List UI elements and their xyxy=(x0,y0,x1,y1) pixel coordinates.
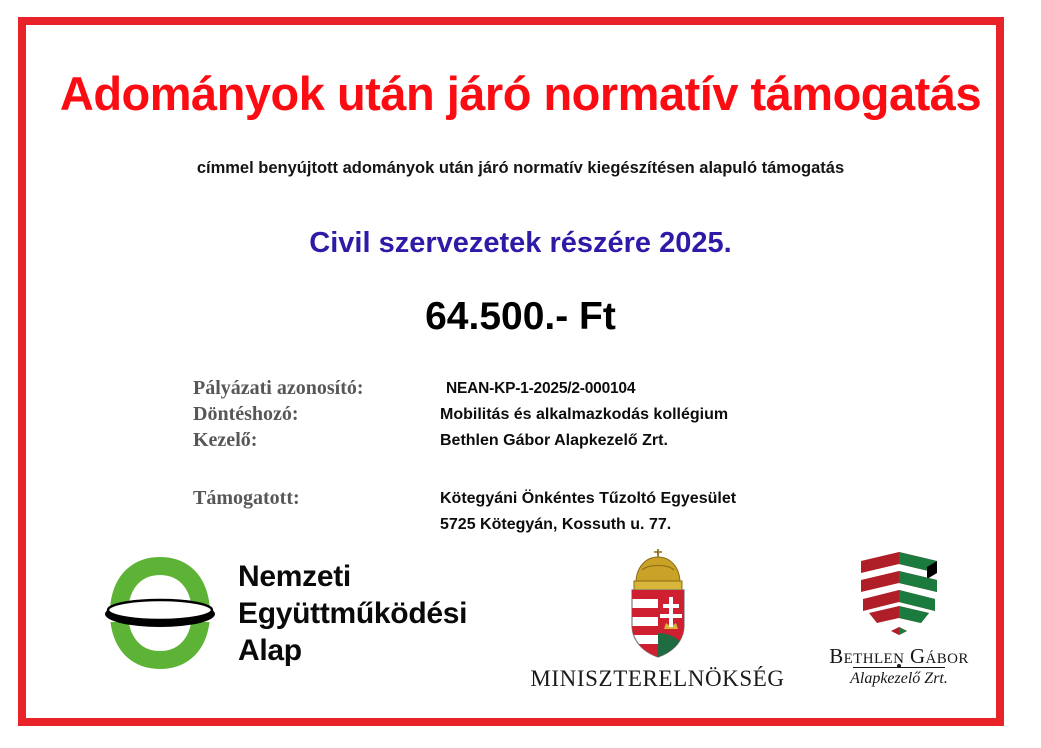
bethlen-gabor-logo: Bethlen Gábor Alapkezelő Zrt. xyxy=(793,545,1005,700)
subtitle-text: címmel benyújtott adományok után járó no… xyxy=(0,157,1041,179)
detail-row-beneficiary-name: Támogatott: Kötegyáni Önkéntes Tűzoltó E… xyxy=(193,485,833,511)
detail-row-decision-maker: Döntéshozó: Mobilitás és alkalmazkodás k… xyxy=(193,401,833,427)
detail-spacer xyxy=(193,453,833,485)
detail-value: NEAN-KP-1-2025/2-000104 xyxy=(446,376,635,401)
detail-row-application-id: Pályázati azonosító: NEAN-KP-1-2025/2-00… xyxy=(193,375,833,401)
detail-label: Döntéshozó: xyxy=(193,401,299,427)
grant-amount: 64.500.- Ft xyxy=(0,293,1041,341)
nea-line-1: Nemzeti xyxy=(238,558,467,595)
detail-value: Mobilitás és alkalmazkodás kollégium xyxy=(440,402,728,427)
hungarian-coat-of-arms-icon xyxy=(610,549,706,661)
nea-ring-icon xyxy=(98,551,222,675)
nea-line-3: Alap xyxy=(238,632,467,669)
grant-certificate-poster: Adományok után járó normatív támogatás c… xyxy=(0,0,1041,748)
bethlen-gabor-shield-icon xyxy=(851,547,947,642)
bethlen-gabor-divider-dot xyxy=(897,664,901,668)
detail-row-manager: Kezelő: Bethlen Gábor Alapkezelő Zrt. xyxy=(193,427,833,453)
detail-label: Pályázati azonosító: xyxy=(193,375,364,401)
miniszterelnokseg-logo: MINISZTERELNÖKSÉG xyxy=(525,549,790,699)
nea-line-2: Együttműködési xyxy=(238,595,467,632)
detail-value: Bethlen Gábor Alapkezelő Zrt. xyxy=(440,428,668,453)
nea-logo-text: Nemzeti Együttműködési Alap xyxy=(238,558,467,669)
detail-label: Támogatott: xyxy=(193,485,300,511)
detail-row-beneficiary-address: 5725 Kötegyán, Kossuth u. 77. xyxy=(193,511,833,537)
nea-logo: Nemzeti Együttműködési Alap xyxy=(98,551,518,681)
detail-label: Kezelő: xyxy=(193,427,257,453)
target-group-line: Civil szervezetek részére 2025. xyxy=(0,225,1041,261)
miniszterelnokseg-caption: MINISZTERELNÖKSÉG xyxy=(525,665,790,693)
detail-value: Kötegyáni Önkéntes Tűzoltó Egyesület xyxy=(440,486,736,511)
bethlen-gabor-subtitle: Alapkezelő Zrt. xyxy=(793,669,1005,689)
logo-strip: Nemzeti Együttműködési Alap xyxy=(0,545,1041,705)
detail-value: 5725 Kötegyán, Kossuth u. 77. xyxy=(440,512,671,537)
details-block: Pályázati azonosító: NEAN-KP-1-2025/2-00… xyxy=(193,375,833,537)
page-title: Adományok után járó normatív támogatás xyxy=(0,66,1041,122)
